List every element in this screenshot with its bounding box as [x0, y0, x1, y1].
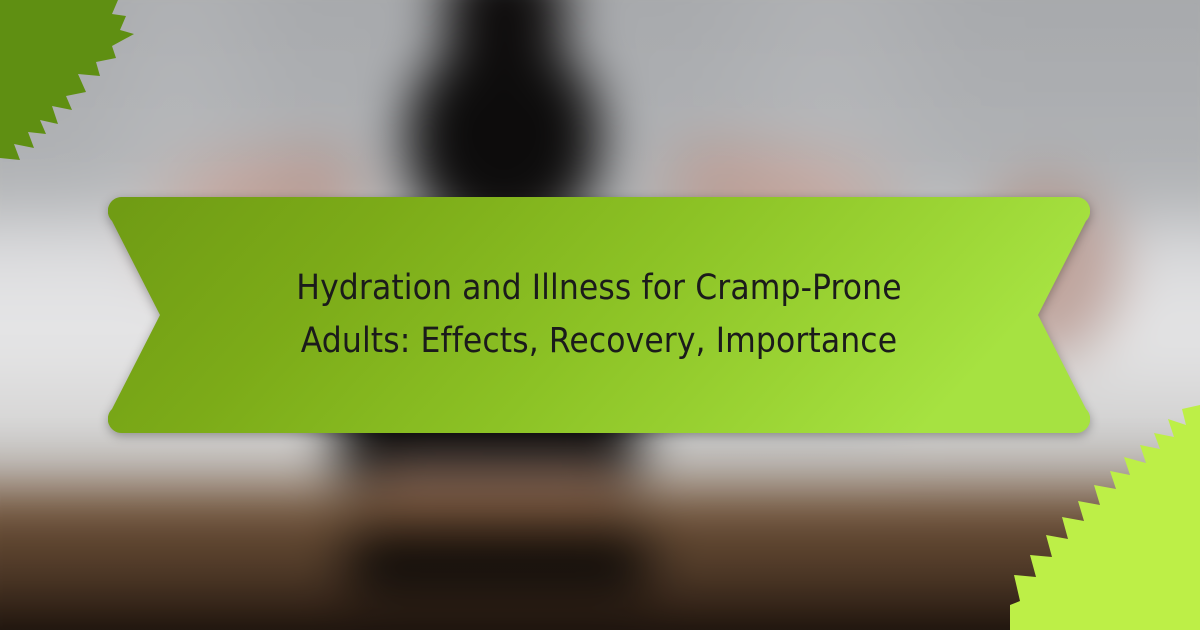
share-card: Hydration and Illness for Cramp-Prone Ad… — [0, 0, 1200, 630]
banner-title-line-2: Adults: Effects, Recovery, Importance — [219, 315, 979, 368]
banner-title: Hydration and Illness for Cramp-Prone Ad… — [219, 262, 979, 368]
banner-title-line-1: Hydration and Illness for Cramp-Prone — [219, 262, 979, 315]
title-banner: Hydration and Illness for Cramp-Prone Ad… — [108, 197, 1090, 433]
